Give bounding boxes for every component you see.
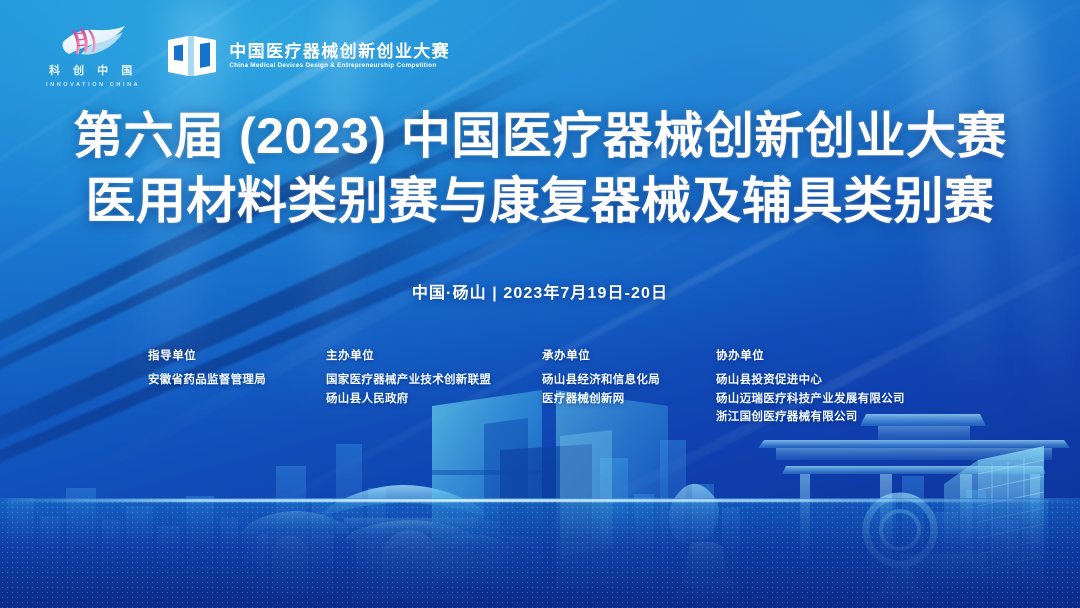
organizer-heading: 主办单位 (326, 347, 491, 363)
competition-logo-en: China Medical Devices Design & Entrepren… (229, 63, 450, 69)
competition-logo: 中国医疗器械创新创业大赛 China Medical Devices Desig… (166, 32, 450, 80)
open-door-logo-icon (166, 32, 218, 80)
header-logos: 科 创 中 国 INNOVATION CHINA 中国医疗器械创新创业大赛 Ch… (46, 24, 450, 88)
organizer-heading: 指导单位 (148, 347, 266, 363)
organizer-item: 砀山县人民政府 (326, 390, 491, 409)
page-title: 第六届 (2023) 中国医疗器械创新创业大赛 医用材料类别赛与康复器械及辅具类… (0, 104, 1080, 234)
location-date: 中国·砀山 | 2023年7月19日-20日 (0, 279, 1080, 303)
title-line-1: 第六届 (2023) 中国医疗器械创新创业大赛 (0, 104, 1080, 169)
innovation-china-logo-cn: 科 创 中 国 (49, 62, 137, 78)
title-line-2: 医用材料类别赛与康复器械及辅具类别赛 (0, 169, 1080, 234)
innovation-china-logo-en: INNOVATION CHINA (46, 82, 140, 88)
innovation-china-logo: 科 创 中 国 INNOVATION CHINA (46, 24, 140, 88)
organizer-item: 砀山迈瑞医疗科技产业发展有限公司 (716, 390, 905, 409)
organizer-column-guidance: 指导单位 安徽省药品监督管理局 (148, 347, 266, 390)
organizer-heading: 协办单位 (716, 347, 905, 363)
competition-logo-text: 中国医疗器械创新创业大赛 China Medical Devices Desig… (229, 43, 450, 69)
organizer-item: 砀山县经济和信息化局 (542, 371, 660, 390)
organizer-heading: 承办单位 (542, 347, 660, 363)
organizer-columns: 指导单位 安徽省药品监督管理局 主办单位 国家医疗器械产业技术创新联盟 砀山县人… (0, 347, 1080, 437)
organizer-item: 浙江国创医疗器械有限公司 (716, 408, 905, 427)
ground-dot-texture (0, 500, 1080, 608)
organizer-column-host: 主办单位 国家医疗器械产业技术创新联盟 砀山县人民政府 (326, 347, 491, 408)
competition-logo-cn: 中国医疗器械创新创业大赛 (229, 43, 450, 60)
organizer-column-coorganizer: 协办单位 砀山县投资促进中心 砀山迈瑞医疗科技产业发展有限公司 浙江国创医疗器械… (716, 347, 905, 427)
dove-dna-logo-icon (55, 24, 131, 58)
organizer-column-undertaker: 承办单位 砀山县经济和信息化局 医疗器械创新网 (542, 347, 660, 408)
organizer-item: 医疗器械创新网 (542, 390, 660, 409)
conference-banner: 科 创 中 国 INNOVATION CHINA 中国医疗器械创新创业大赛 Ch… (0, 0, 1080, 608)
organizer-item: 安徽省药品监督管理局 (148, 371, 266, 390)
organizer-item: 国家医疗器械产业技术创新联盟 (326, 371, 491, 390)
organizer-item: 砀山县投资促进中心 (716, 371, 905, 390)
